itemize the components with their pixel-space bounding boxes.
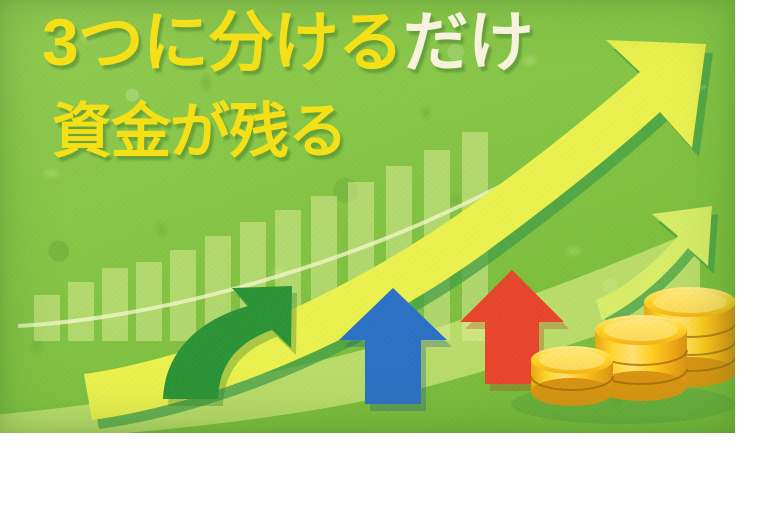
headline-part-yellow: 3つに分ける: [42, 5, 403, 79]
coin-stack-medium: [595, 315, 687, 401]
coin-stack-large: [644, 287, 735, 387]
subline-part-yellow: 資金が残る: [52, 98, 347, 165]
coin-stack-small: [531, 346, 613, 406]
poster-headline: 3つに分けるだけ: [42, 8, 533, 78]
headline-part-cream: だけ: [403, 5, 533, 79]
poster-image: 3つに分けるだけ 資金が残る: [0, 0, 735, 433]
screenshot-canvas: 3つに分けるだけ 資金が残る: [0, 0, 768, 512]
poster-subline: 資金が残る: [52, 100, 347, 164]
